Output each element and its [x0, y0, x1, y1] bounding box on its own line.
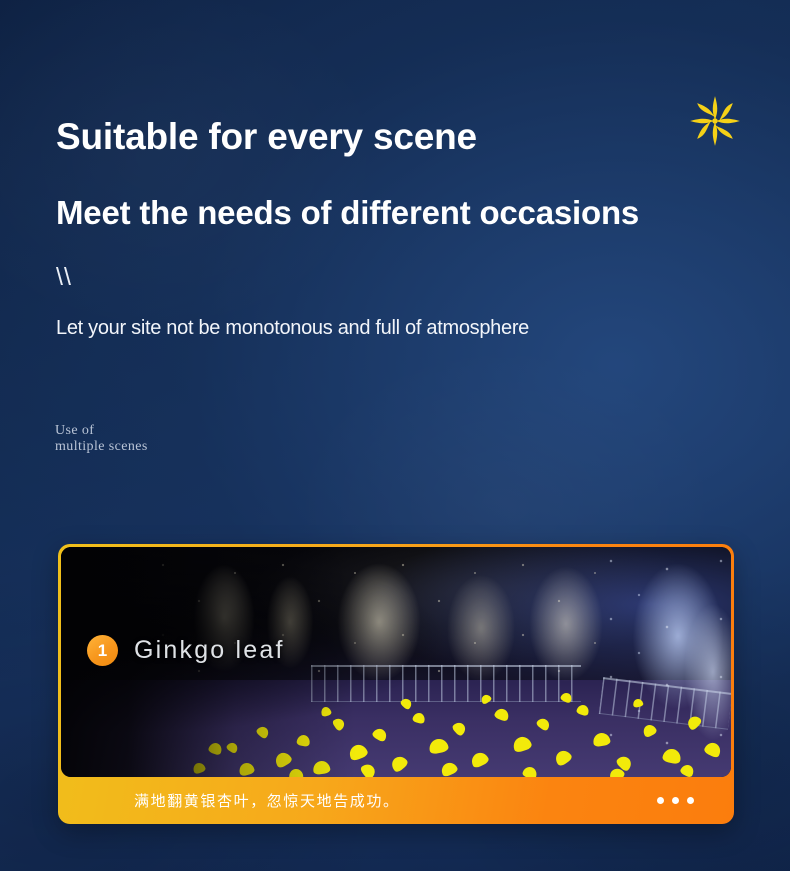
scene-index-badge: 1 — [87, 635, 118, 666]
page-title: Suitable for every scene — [56, 114, 477, 160]
promo-page: Suitable for every scene Meet the needs … — [0, 0, 790, 871]
scene-card[interactable]: 1 Ginkgo leaf 满地翻黄银杏叶，忽惊天地告成功。 — [58, 544, 734, 824]
tagline-text: Let your site not be monotonous and full… — [56, 314, 529, 342]
ellipsis-icon[interactable] — [657, 797, 694, 804]
page-subtitle: Meet the needs of different occasions — [56, 192, 639, 234]
eyebrow-label: Use of multiple scenes — [55, 423, 148, 455]
eight-point-star-icon — [688, 94, 742, 148]
caption-text: 满地翻黄银杏叶，忽惊天地告成功。 — [134, 790, 400, 811]
scene-label-row: 1 Ginkgo leaf — [87, 635, 285, 666]
caption-bar: 满地翻黄银杏叶，忽惊天地告成功。 — [58, 777, 734, 824]
slash-decoration: \\ — [56, 262, 72, 292]
scene-photo: 1 Ginkgo leaf — [61, 547, 731, 777]
scene-title: Ginkgo leaf — [134, 636, 285, 665]
